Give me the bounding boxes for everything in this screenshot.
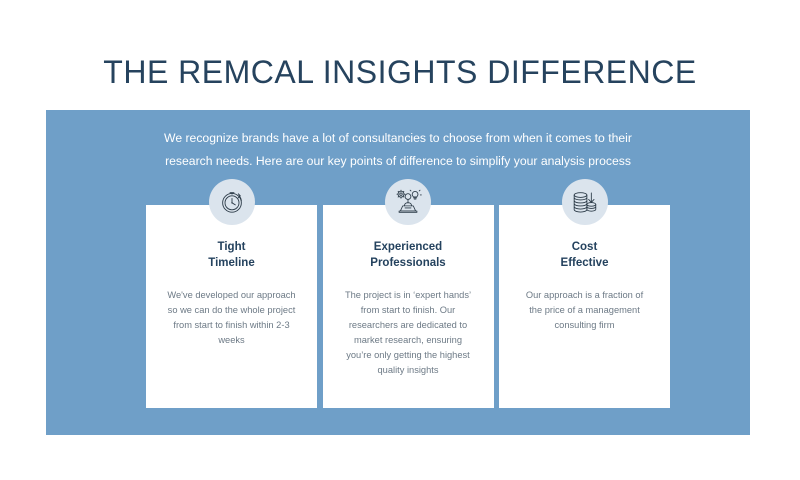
blue-content-panel: We recognize brands have a lot of consul… — [46, 110, 750, 435]
feature-card-tight-timeline[interactable]: Tight Timeline We've developed our appro… — [146, 205, 317, 408]
stopwatch-timer-icon — [219, 189, 245, 215]
icon-badge — [562, 179, 608, 225]
page-title: THE REMCAL INSIGHTS DIFFERENCE — [0, 55, 800, 90]
researcher-at-laptop-icon — [394, 188, 422, 216]
feature-card-experienced-professionals[interactable]: Experienced Professionals The project is… — [323, 205, 494, 408]
subtitle-text: We recognize brands have a lot of consul… — [162, 127, 634, 172]
feature-cards-row: Tight Timeline We've developed our appro… — [146, 205, 670, 408]
card-body-text: Our approach is a fraction of the price … — [513, 288, 656, 333]
card-heading: Experienced Professionals — [337, 239, 480, 272]
card-heading: Tight Timeline — [160, 239, 303, 272]
card-body-text: We've developed our approach so we can d… — [160, 288, 303, 348]
coin-stacks-icon — [571, 189, 598, 216]
icon-badge — [385, 179, 431, 225]
card-body-text: The project is in ‘expert hands’ from st… — [337, 288, 480, 378]
slide-canvas: THE REMCAL INSIGHTS DIFFERENCE We recogn… — [0, 0, 800, 480]
feature-card-cost-effective[interactable]: Cost Effective Our approach is a fractio… — [499, 205, 670, 408]
icon-badge — [209, 179, 255, 225]
card-heading: Cost Effective — [513, 239, 656, 272]
